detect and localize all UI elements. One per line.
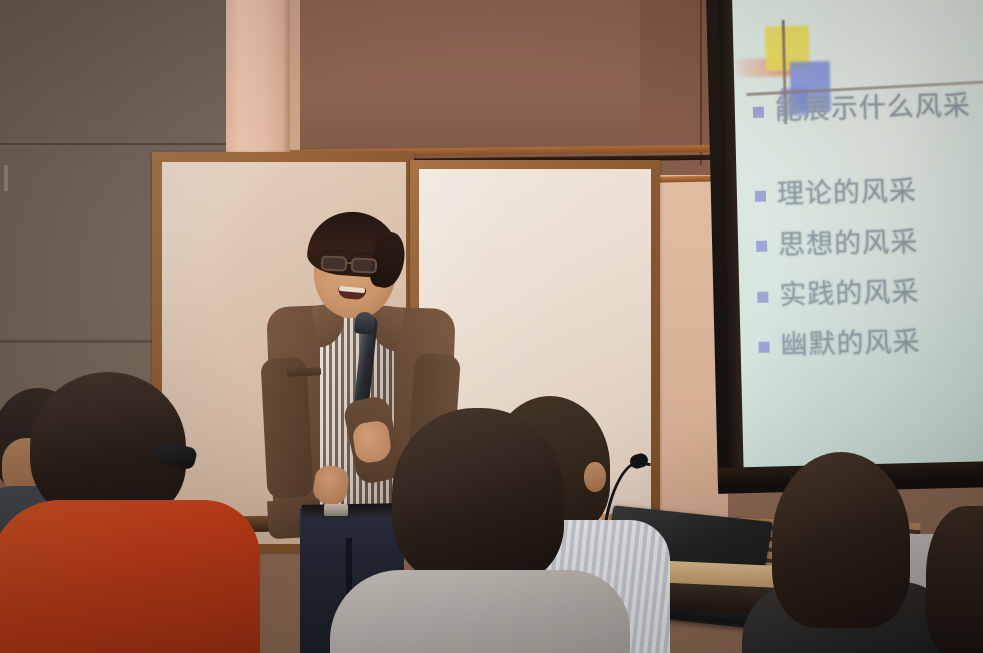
projection-screen: 能展示什么风采 理论的风采 思想的风采 实践的风采 幽默的风采 xyxy=(706,0,983,494)
attendee-orange-shirt-body xyxy=(0,500,260,653)
attendee-striped-shirt-ear xyxy=(584,462,606,492)
presenter-belt xyxy=(302,503,398,518)
attendee-center-body xyxy=(330,570,630,653)
attendee-bob-hair xyxy=(772,452,910,628)
slide-bullet-text: 实践的风采 xyxy=(779,274,920,316)
brown-wall-seam xyxy=(700,0,702,165)
slide-bullet-text: 理论的风采 xyxy=(776,173,917,215)
presenter-sleeve-left xyxy=(260,357,313,499)
slide-bullet-text: 思想的风采 xyxy=(778,224,919,266)
slide-bullet-item: 思想的风采 xyxy=(756,222,983,266)
attendee-far-right-hair xyxy=(926,506,983,653)
slide-bullet-item: 理论的风采 xyxy=(754,171,983,215)
handheld-microphone-head xyxy=(354,311,375,335)
eyeglasses-icon xyxy=(351,257,378,273)
slide-bullet-item: 实践的风采 xyxy=(757,272,983,316)
slide-bullet-marker-icon xyxy=(759,342,770,353)
slide-bullet-marker-icon xyxy=(756,241,767,252)
slide-bullet-marker-icon xyxy=(755,191,766,202)
slide-bullet-text: 幽默的风采 xyxy=(780,324,921,366)
slide-bullet-item: 幽默的风采 xyxy=(758,322,983,366)
lecture-hall-photo: 能展示什么风采 理论的风采 思想的风采 实践的风采 幽默的风采 xyxy=(0,0,983,653)
slide-bullet-marker-icon xyxy=(753,106,764,117)
slide-bullet-list: 能展示什么风采 理论的风采 思想的风采 实践的风采 幽默的风采 xyxy=(752,87,983,370)
slide-bullet-item: 能展示什么风采 xyxy=(752,87,983,131)
slide-bullet-marker-icon xyxy=(757,291,768,302)
presenter-belt-buckle xyxy=(324,504,348,516)
eyeglasses-icon xyxy=(321,255,348,271)
attendee-center-head xyxy=(392,408,564,586)
left-wall-seam-top xyxy=(0,143,232,145)
left-wall-notch xyxy=(4,165,8,191)
slide-bullet-text: 能展示什么风采 xyxy=(774,88,971,131)
eyeglasses-bridge xyxy=(346,262,353,264)
